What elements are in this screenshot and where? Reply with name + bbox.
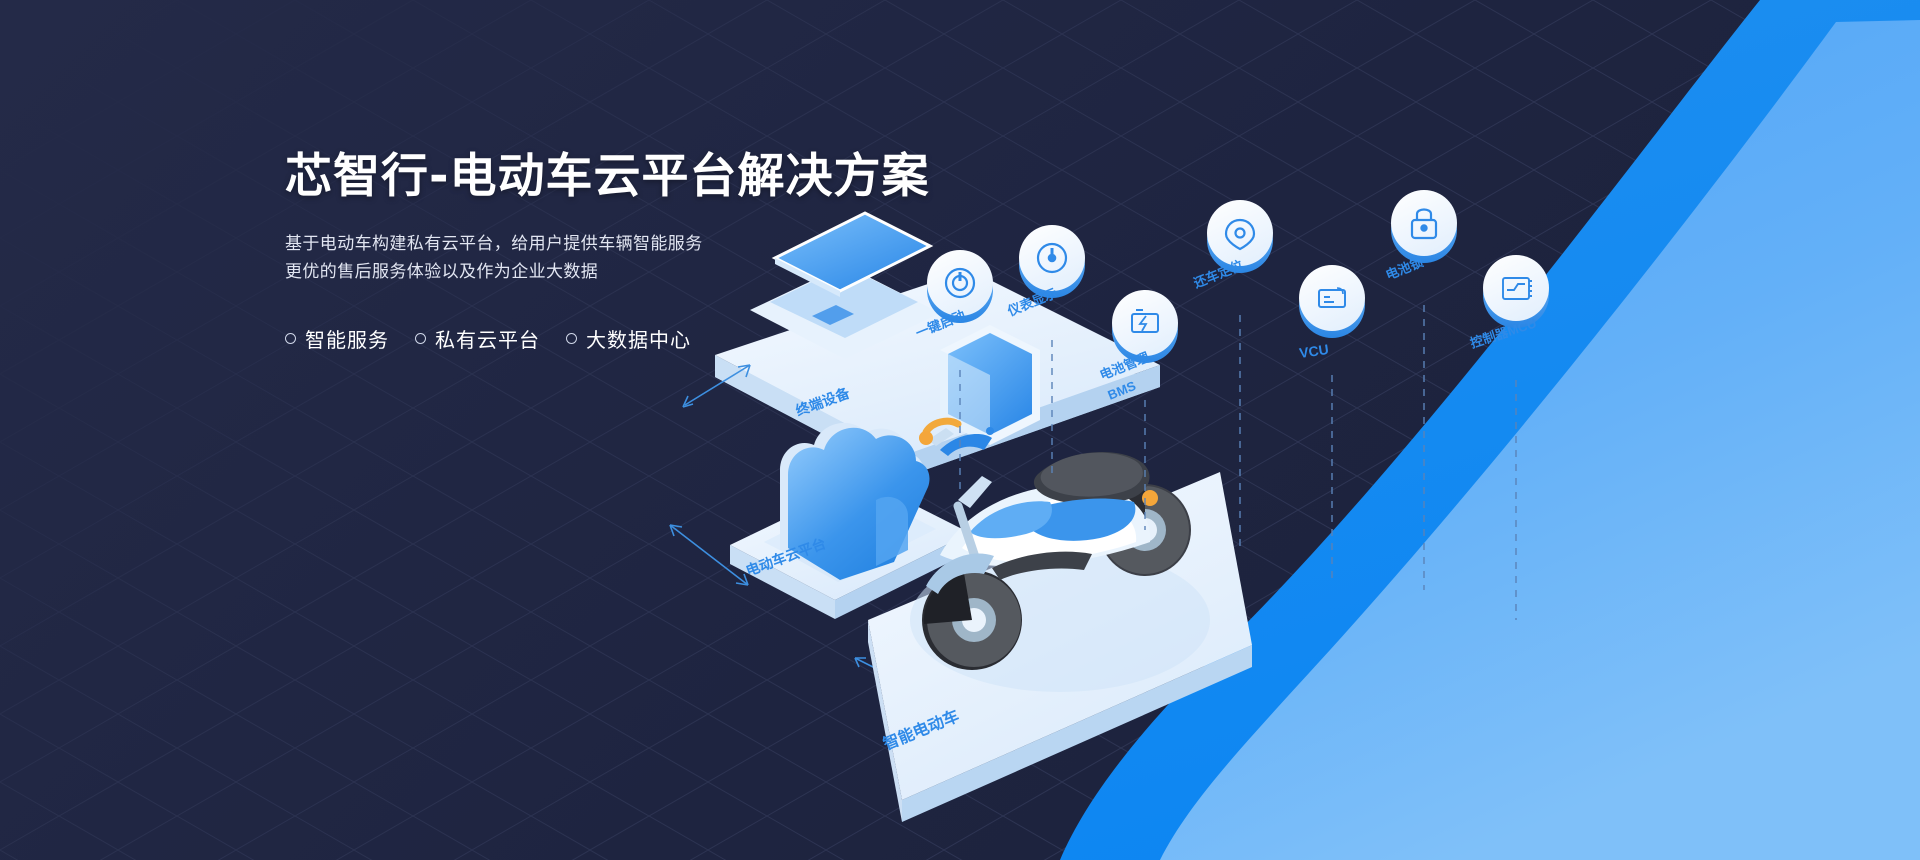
banner-stage: 芯智行-电动车云平台解决方案 基于电动车构建私有云平台，给用户提供车辆智能服务 …	[0, 0, 1920, 860]
bullet-label: 私有云平台	[435, 324, 540, 353]
feature-node-return-locate[interactable]: 还车定位	[1191, 200, 1273, 291]
circle-bullet-icon	[566, 333, 577, 344]
bullet-item-smart-service[interactable]: 智能服务	[285, 324, 389, 353]
illustration-canvas: 终端设备 电动车云平台	[640, 150, 1920, 860]
feature-node-dashboard[interactable]: 仪表显示	[1005, 225, 1085, 319]
electric-scooter-icon	[910, 421, 1210, 692]
circle-bullet-icon	[415, 333, 426, 344]
feature-label: 电池锁	[1384, 254, 1426, 283]
feature-node-mcu[interactable]: 控制器MCU	[1468, 255, 1549, 351]
smartphone-icon	[940, 325, 1040, 445]
bullet-item-private-cloud[interactable]: 私有云平台	[415, 324, 540, 353]
feature-node-vcu[interactable]: VCU	[1298, 265, 1365, 361]
bullet-label: 智能服务	[305, 324, 389, 353]
isometric-illustration: 终端设备 电动车云平台	[640, 150, 1920, 860]
circle-bullet-icon	[285, 333, 296, 344]
feature-label: VCU	[1298, 341, 1330, 361]
feature-node-battery-lock[interactable]: 电池锁	[1384, 190, 1457, 283]
